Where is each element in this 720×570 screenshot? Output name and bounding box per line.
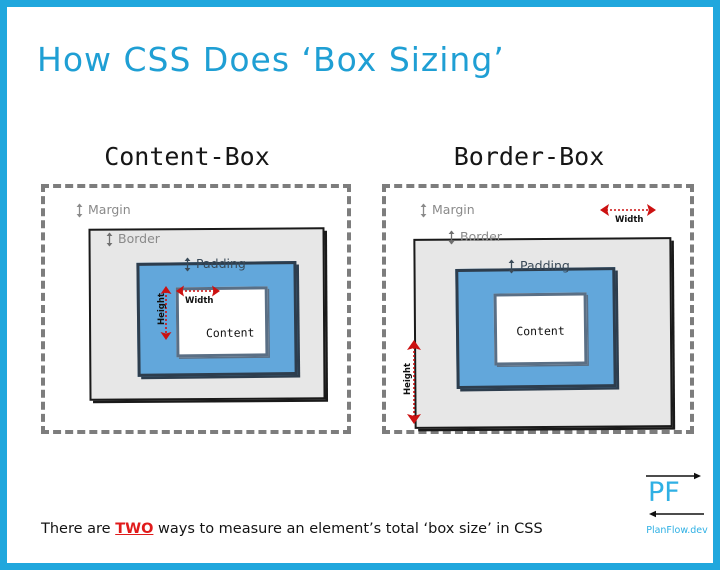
slide-content: How CSS Does ‘Box Sizing’ Content-Box Co… [7,7,713,563]
diagram-heading-border-box: Border-Box [369,142,689,171]
content-label: Content [497,323,584,338]
page-title: How CSS Does ‘Box Sizing’ [37,40,505,79]
padding-box-border-box: Content [455,267,616,389]
measure-height-label: Height [403,363,413,395]
label-padding-text: Padding [520,260,570,273]
label-padding-border-box: Padding [507,259,570,274]
margin-box-content-box: Content [41,184,351,434]
updown-arrow-icon [419,203,428,218]
label-padding-content-box: Padding [183,257,246,272]
slide-frame: How CSS Does ‘Box Sizing’ Content-Box Co… [0,0,720,570]
updown-arrow-icon [447,230,456,245]
logo-wordmark: PlanFlow.dev [644,525,710,536]
label-margin-border-box: Margin [419,203,475,218]
caption-after: ways to measure an element’s total ‘box … [153,521,542,537]
measure-width-label: Width [615,215,644,225]
caption-before: There are [41,521,115,537]
measure-height-content-box: Height [159,285,173,341]
measure-height-border-box: Height [406,339,422,425]
measure-height-label: Height [157,293,167,325]
updown-arrow-icon [75,203,84,218]
measure-width-label: Width [185,296,214,306]
label-border-text: Border [460,231,502,244]
caption: There are TWO ways to measure an element… [41,521,543,537]
label-border-border-box: Border [447,230,502,245]
label-border-content-box: Border [105,232,160,247]
label-margin-text: Margin [88,204,131,217]
updown-arrow-icon [507,259,516,274]
caption-highlight: TWO [115,521,153,537]
measure-width-content-box: Width [175,284,221,298]
label-margin-text: Margin [432,204,475,217]
label-margin-content-box: Margin [75,203,131,218]
updown-arrow-icon [105,232,114,247]
diagram-heading-content-box: Content-Box [27,142,347,171]
content-label: Content [179,325,265,340]
arrow-left-icon [649,511,704,517]
brand-logo[interactable]: PF PlanFlow.dev [644,471,714,551]
logo-initials: PF [648,479,680,506]
content-area-border-box: Content [494,292,588,365]
margin-box-border-box: Content [382,184,694,434]
label-padding-text: Padding [196,258,246,271]
measure-width-border-box: Width [599,203,657,217]
updown-arrow-icon [183,257,192,272]
logo-mark: PF [644,471,706,519]
label-border-text: Border [118,233,160,246]
border-box-content-box: Content [88,227,325,400]
